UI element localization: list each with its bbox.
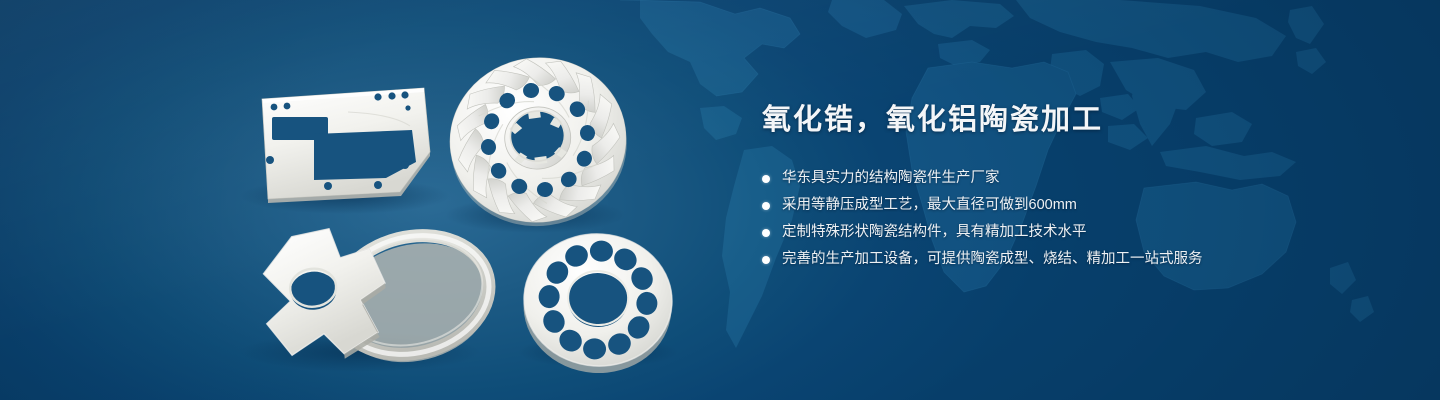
list-item: 定制特殊形状陶瓷结构件，具有精加工技术水平 bbox=[762, 221, 1362, 244]
ceramic-products-photo bbox=[0, 0, 720, 400]
page-title: 氧化锆，氧化铝陶瓷加工 bbox=[762, 104, 1362, 137]
bullet-dot-icon bbox=[762, 229, 770, 237]
banner-copy: 氧化锆，氧化铝陶瓷加工 华东具实力的结构陶瓷件生产厂家 采用等静压成型工艺，最大… bbox=[762, 104, 1362, 275]
feature-text: 完善的生产加工设备，可提供陶瓷成型、烧结、精加工一站式服务 bbox=[782, 248, 1203, 271]
bullet-dot-icon bbox=[762, 175, 770, 183]
bullet-dot-icon bbox=[762, 202, 770, 210]
list-item: 采用等静压成型工艺，最大直径可做到600mm bbox=[762, 194, 1362, 217]
list-item: 完善的生产加工设备，可提供陶瓷成型、烧结、精加工一站式服务 bbox=[762, 248, 1362, 271]
list-item: 华东具实力的结构陶瓷件生产厂家 bbox=[762, 167, 1362, 190]
hero-banner: 氧化锆，氧化铝陶瓷加工 华东具实力的结构陶瓷件生产厂家 采用等静压成型工艺，最大… bbox=[0, 0, 1440, 400]
ceramic-mounting-plate bbox=[262, 88, 430, 203]
bullet-dot-icon bbox=[762, 256, 770, 264]
feature-text: 定制特殊形状陶瓷结构件，具有精加工技术水平 bbox=[782, 221, 1087, 244]
feature-text: 采用等静压成型工艺，最大直径可做到600mm bbox=[782, 194, 1077, 217]
feature-list: 华东具实力的结构陶瓷件生产厂家 采用等静压成型工艺，最大直径可做到600mm 定… bbox=[762, 167, 1362, 271]
feature-text: 华东具实力的结构陶瓷件生产厂家 bbox=[782, 167, 1000, 190]
